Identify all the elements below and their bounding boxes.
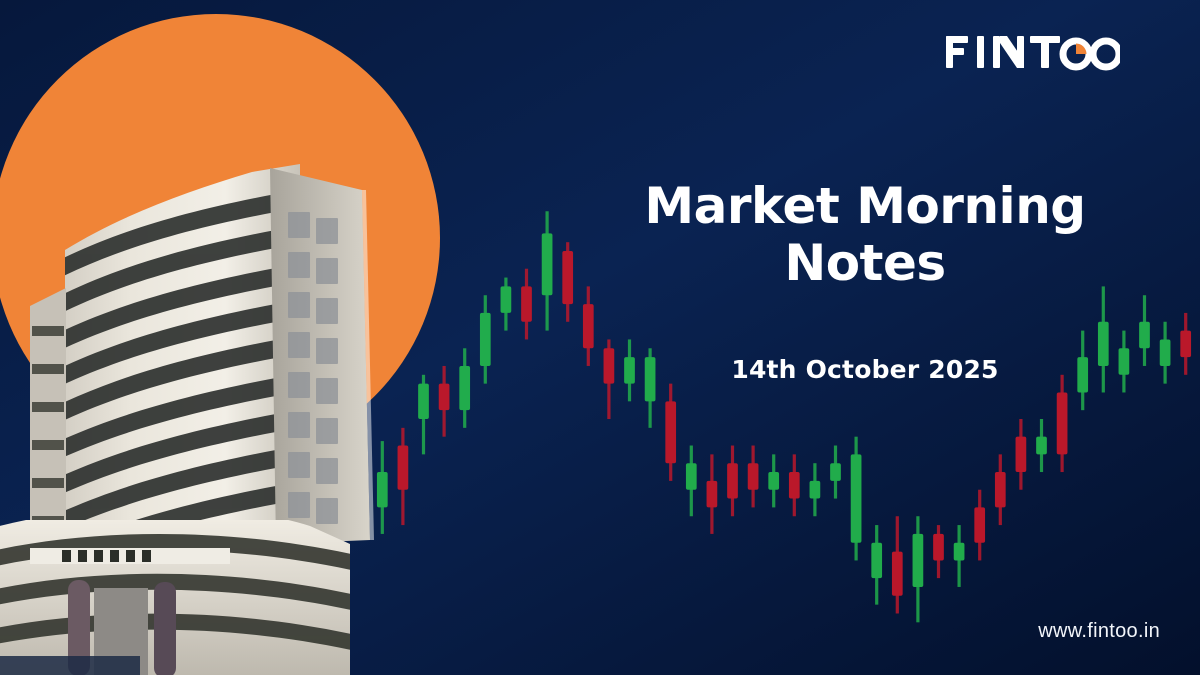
market-morning-notes-banner: Market Morning Notes 14th October 2025 w… xyxy=(0,0,1200,675)
website-url[interactable]: www.fintoo.in xyxy=(1038,620,1160,643)
headline-line-1: Market Morning xyxy=(644,177,1085,235)
page-title: Market Morning Notes xyxy=(600,178,1130,291)
fintoo-logo[interactable] xyxy=(944,30,1120,74)
bse-building-image xyxy=(0,120,440,675)
publication-date: 14th October 2025 xyxy=(600,355,1130,384)
headline-line-2: Notes xyxy=(784,234,945,292)
